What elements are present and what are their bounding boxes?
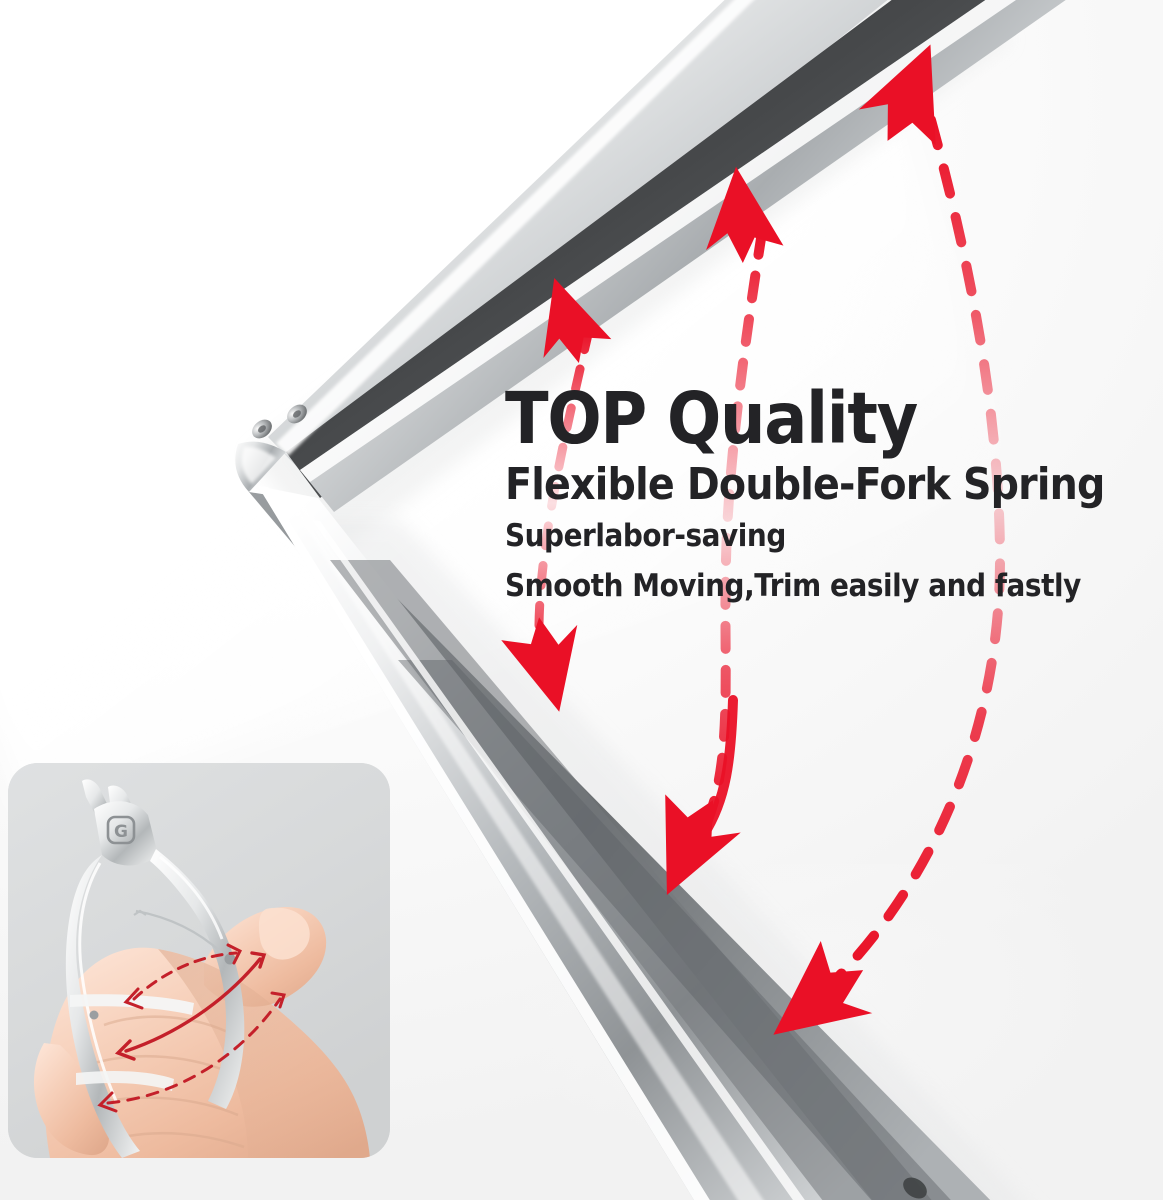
- page-title: TOP Quality: [505, 386, 1045, 453]
- headline-block: TOP Quality Flexible Double-Fork Spring …: [505, 386, 1105, 607]
- inset-handle-stud: [90, 1011, 99, 1020]
- benefit-line-2: Smooth Moving,Trim easily and fastly: [505, 566, 1045, 607]
- arrow-outer-open: [852, 30, 964, 156]
- feature-graphic-canvas: TOP Quality Flexible Double-Fork Spring …: [0, 0, 1163, 1200]
- inset-brand-mark: G: [114, 822, 128, 842]
- headline-subtitle: Flexible Double-Fork Spring: [505, 462, 1045, 509]
- arrow-middle-open: [693, 161, 786, 269]
- benefit-line-1: Superlabor-saving: [505, 516, 1045, 557]
- inset-usage-photo: G: [8, 763, 390, 1158]
- arrow-middle-close: [633, 784, 748, 911]
- arrow-outer-close: [748, 933, 889, 1072]
- arrow-inner-open: [517, 267, 615, 375]
- arrow-inner-close: [498, 607, 601, 722]
